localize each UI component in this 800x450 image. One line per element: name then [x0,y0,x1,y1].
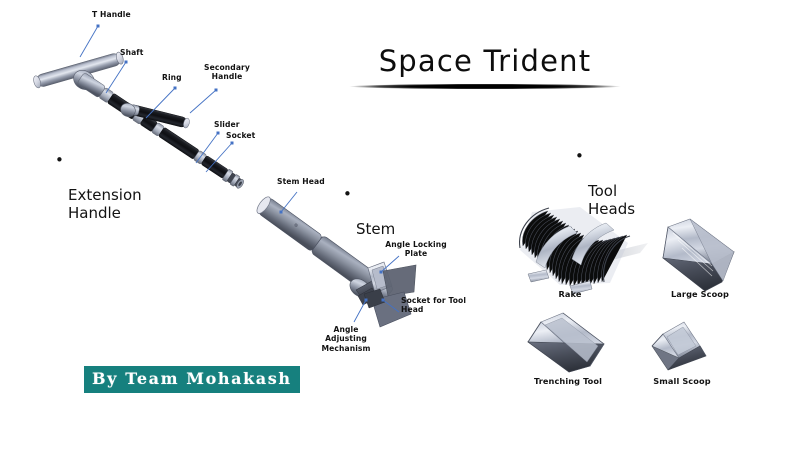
callout-angle-adjusting-mechanism: Angle Adjusting Mechanism [312,325,380,353]
slide-title-block: Space Trident [335,46,635,89]
callout-slider: Slider [214,120,240,129]
section-heading-tool-heads: • Tool Heads [588,148,678,219]
rake-geometry [520,207,648,294]
callout-shaft: Shaft [120,48,143,57]
bullet-icon: • [575,148,584,166]
section-heading-stem: • Stem [356,186,446,239]
section-heading-label: Extension Handle [68,186,142,222]
callout-stem-head: Stem Head [277,177,325,186]
team-credit-banner: By Team Mohakash [84,366,300,393]
caption-large-scoop: Large Scoop [662,289,738,299]
section-heading-label: Tool Heads [588,182,635,218]
large-scoop-geometry [663,219,734,291]
bullet-icon: • [55,152,64,170]
caption-trenching-tool: Trenching Tool [521,376,615,386]
callout-t-handle: T Handle [92,10,131,19]
slide-canvas: Space Trident • Extension Handle • Stem … [0,0,800,450]
caption-small-scoop: Small Scoop [641,376,723,386]
callout-socket-for-tool-head: Socket for Tool Head [401,296,466,315]
page-title: Space Trident [335,46,635,78]
section-heading-label: Stem [356,220,395,238]
trenching-tool-geometry [528,313,604,372]
caption-rake: Rake [540,289,600,299]
team-credit-label: By Team Mohakash [92,369,292,388]
small-scoop-geometry [652,322,706,370]
title-underline [349,84,621,89]
callout-socket: Socket [226,131,255,140]
bullet-icon: • [343,186,352,204]
callout-angle-locking-plate: Angle Locking Plate [385,240,447,259]
callout-ring: Ring [162,73,182,82]
section-heading-extension-handle: • Extension Handle [68,152,188,223]
callout-secondary-handle: Secondary Handle [196,63,258,82]
